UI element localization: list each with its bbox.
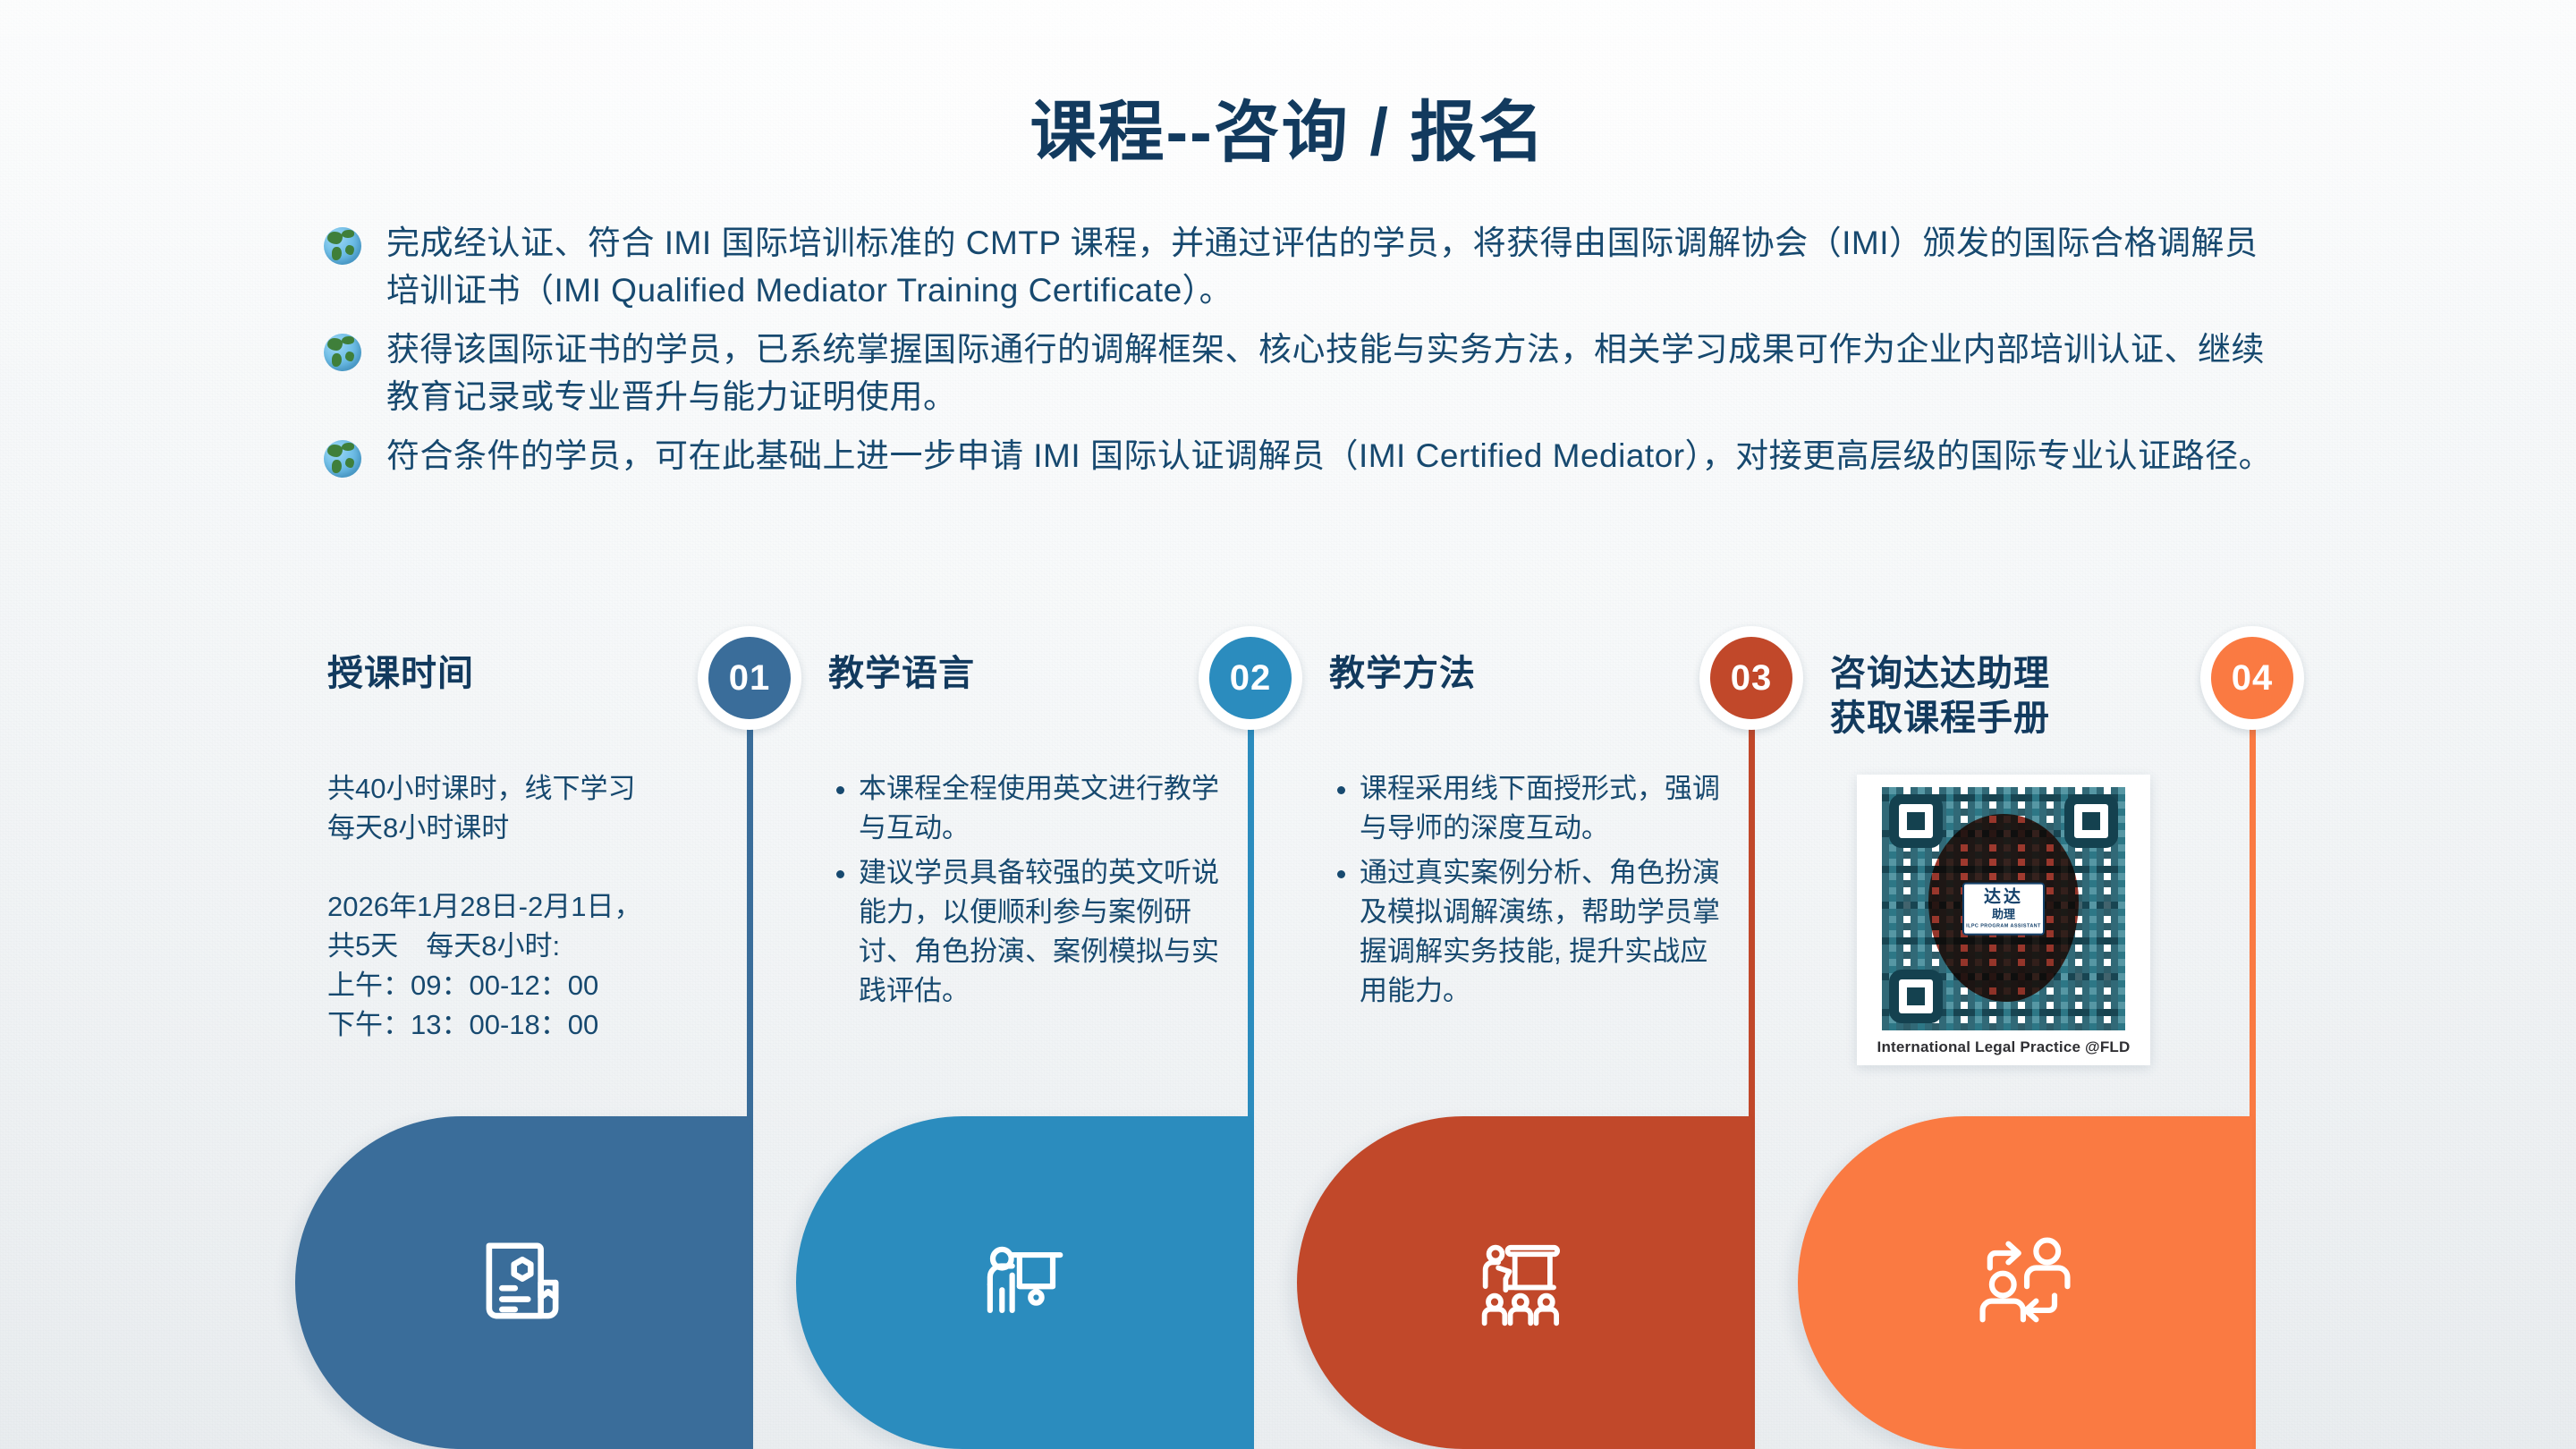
qr-finder-icon bbox=[1889, 794, 1943, 848]
people-exchange-icon bbox=[1966, 1224, 2084, 1342]
icon-panel bbox=[1798, 1116, 2252, 1449]
list-item: 本课程全程使用英文进行教学与互动。 bbox=[859, 769, 1222, 848]
qr-code-image: 达达 助理 ILPC PROGRAM ASSISTANT bbox=[1882, 787, 2125, 1030]
list-item: 获得该国际证书的学员，已系统掌握国际通行的调解框架、核心技能与实务方法，相关学习… bbox=[324, 326, 2274, 420]
column-授课时间: 授课时间 共40小时课时，线下学习 每天8小时课时 2026年1月28日-2月1… bbox=[295, 626, 796, 1449]
globe-icon bbox=[324, 440, 361, 478]
step-number: 03 bbox=[1710, 637, 1792, 719]
list-item: 符合条件的学员，可在此基础上进一步申请 IMI 国际认证调解员（IMI Cert… bbox=[324, 433, 2274, 480]
column-body: 共40小时课时，线下学习 每天8小时课时 2026年1月28日-2月1日， 共5… bbox=[327, 769, 721, 1045]
qr-logo-line1: 达达 bbox=[1966, 889, 2041, 906]
certificate-document-icon bbox=[463, 1224, 581, 1342]
intro-text: 获得该国际证书的学员，已系统掌握国际通行的调解框架、核心技能与实务方法，相关学习… bbox=[386, 326, 2274, 420]
step-badge-03: 03 bbox=[1699, 626, 1803, 730]
intro-text: 完成经认证、符合 IMI 国际培训标准的 CMTP 课程，并通过评估的学员，将获… bbox=[386, 220, 2274, 314]
list-item: 通过真实案例分析、角色扮演及模拟调解演练，帮助学员掌握调解实务技能, 提升实战应… bbox=[1360, 853, 1723, 1011]
icon-panel bbox=[1297, 1116, 1751, 1449]
step-badge-04: 04 bbox=[2200, 626, 2304, 730]
column-heading: 咨询达达助理 获取课程手册 bbox=[1830, 651, 2215, 741]
qr-finder-icon bbox=[1889, 970, 1943, 1023]
column-heading: 授课时间 bbox=[327, 651, 712, 696]
schedule-text: 共40小时课时，线下学习 每天8小时课时 2026年1月28日-2月1日， 共5… bbox=[327, 769, 721, 1045]
step-number: 02 bbox=[1209, 637, 1292, 719]
intro-text: 符合条件的学员，可在此基础上进一步申请 IMI 国际认证调解员（IMI Cert… bbox=[386, 433, 2272, 480]
column-教学语言: 教学语言 本课程全程使用英文进行教学与互动。 建议学员具备较强的英文听说能力，以… bbox=[796, 626, 1297, 1449]
globe-icon bbox=[324, 334, 361, 371]
column-咨询达达助理: 咨询达达助理 获取课程手册 达达 助理 ILPC PROGRAM ASSISTA… bbox=[1798, 626, 2299, 1449]
column-heading: 教学语言 bbox=[828, 651, 1213, 696]
qr-center-logo: 达达 助理 ILPC PROGRAM ASSISTANT bbox=[1962, 883, 2045, 936]
column-body: 课程采用线下面授形式，强调与导师的深度互动。 通过真实案例分析、角色扮演及模拟调… bbox=[1329, 769, 1723, 1016]
presenter-board-icon bbox=[964, 1224, 1082, 1342]
step-number: 04 bbox=[2211, 637, 2293, 719]
qr-code-card[interactable]: 达达 助理 ILPC PROGRAM ASSISTANT Internation… bbox=[1857, 775, 2150, 1065]
qr-caption: International Legal Practice @FLD bbox=[1869, 1038, 2138, 1056]
qr-logo-line3: ILPC PROGRAM ASSISTANT bbox=[1966, 923, 2041, 929]
column-教学方法: 教学方法 课程采用线下面授形式，强调与导师的深度互动。 通过真实案例分析、角色扮… bbox=[1297, 626, 1798, 1449]
step-badge-02: 02 bbox=[1199, 626, 1302, 730]
classroom-training-icon bbox=[1465, 1224, 1583, 1342]
qr-finder-icon bbox=[2064, 794, 2118, 848]
globe-icon bbox=[324, 227, 361, 265]
column-heading: 教学方法 bbox=[1329, 651, 1714, 696]
feature-columns: 授课时间 共40小时课时，线下学习 每天8小时课时 2026年1月28日-2月1… bbox=[0, 626, 2576, 1449]
column-body: 本课程全程使用英文进行教学与互动。 建议学员具备较强的英文听说能力，以便顺利参与… bbox=[828, 769, 1222, 1016]
list-item: 完成经认证、符合 IMI 国际培训标准的 CMTP 课程，并通过评估的学员，将获… bbox=[324, 220, 2274, 314]
page-title: 课程--咨询 / 报名 bbox=[0, 79, 2576, 174]
icon-panel bbox=[796, 1116, 1250, 1449]
list-item: 建议学员具备较强的英文听说能力，以便顺利参与案例研讨、角色扮演、案例模拟与实践评… bbox=[859, 853, 1222, 1011]
step-number: 01 bbox=[708, 637, 791, 719]
slide-root: 课程--咨询 / 报名 完成经认证、符合 IMI 国际培训标准的 CMTP 课程… bbox=[0, 0, 2576, 1449]
intro-bullet-list: 完成经认证、符合 IMI 国际培训标准的 CMTP 课程，并通过评估的学员，将获… bbox=[324, 220, 2274, 493]
icon-panel bbox=[295, 1116, 750, 1449]
step-badge-01: 01 bbox=[698, 626, 801, 730]
qr-logo-line2: 助理 bbox=[1966, 908, 2041, 922]
list-item: 课程采用线下面授形式，强调与导师的深度互动。 bbox=[1360, 769, 1723, 848]
